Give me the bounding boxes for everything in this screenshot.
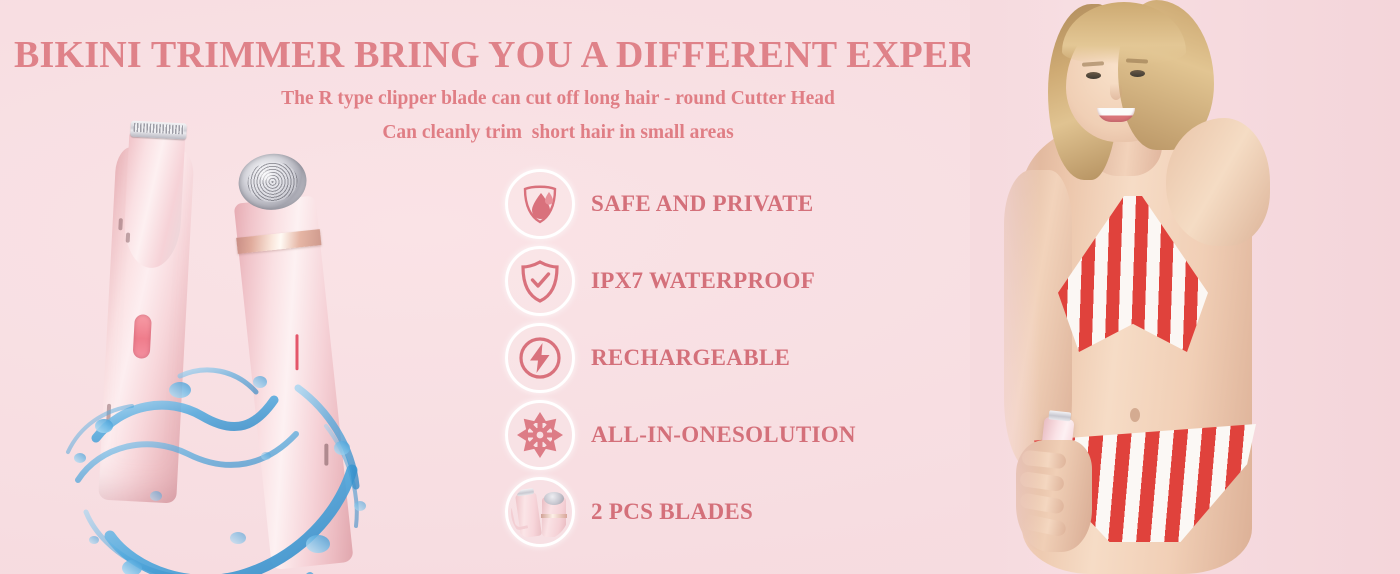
product-feature-banner: BIKINI TRIMMER BRING YOU A DIFFERENT EXP… bbox=[0, 0, 1400, 574]
trimmer-vent bbox=[118, 218, 123, 230]
feature-label: IPX7 WATERPROOF bbox=[591, 268, 815, 294]
icon-ring bbox=[505, 246, 575, 316]
model-photo bbox=[970, 0, 1400, 574]
feature-item-2-pcs-blades: 2 PCS BLADES bbox=[505, 473, 925, 550]
model-navel bbox=[1130, 408, 1140, 422]
icon-ring bbox=[505, 169, 575, 239]
model-right-arm bbox=[1166, 118, 1270, 246]
mini-shaver-head bbox=[542, 497, 566, 537]
feature-label: 2 PCS BLADES bbox=[591, 499, 753, 525]
radial-arrows-burst-icon bbox=[515, 410, 565, 460]
icon-ring bbox=[505, 400, 575, 470]
feature-item-ipx7-waterproof: IPX7 WATERPROOF bbox=[505, 242, 925, 319]
feature-label: SAFE AND PRIVATE bbox=[591, 191, 814, 217]
model-eye bbox=[1130, 70, 1145, 77]
model-eye bbox=[1086, 72, 1101, 79]
subtitle-line-1: The R type clipper blade can cut off lon… bbox=[58, 88, 1058, 110]
model-nose bbox=[1110, 84, 1122, 100]
two-blade-heads-photo-icon bbox=[511, 483, 569, 541]
trimmer-vent bbox=[126, 233, 131, 243]
feature-label: RECHARGEABLE bbox=[591, 345, 790, 371]
page-title: BIKINI TRIMMER BRING YOU A DIFFERENT EXP… bbox=[14, 36, 1004, 74]
feature-list: SAFE AND PRIVATE IPX7 WATERPROOF bbox=[505, 165, 925, 550]
feature-item-rechargeable: RECHARGEABLE bbox=[505, 319, 925, 396]
feature-item-all-in-one-solution: ALL-IN-ONESOLUTION bbox=[505, 396, 925, 473]
product-image-group bbox=[60, 100, 390, 574]
water-splash-icon bbox=[60, 330, 390, 574]
shield-check-icon bbox=[519, 258, 561, 304]
photo-left-edge-fade bbox=[970, 0, 1040, 574]
shield-water-drop-icon bbox=[519, 182, 561, 226]
feature-label: ALL-IN-ONESOLUTION bbox=[591, 422, 856, 448]
icon-ring bbox=[505, 477, 575, 547]
subtitle-line-2: Can cleanly trim short hair in small are… bbox=[58, 122, 1058, 144]
feature-item-safe-and-private: SAFE AND PRIVATE bbox=[505, 165, 925, 242]
lightning-bolt-circle-icon bbox=[517, 335, 563, 381]
icon-ring bbox=[505, 323, 575, 393]
